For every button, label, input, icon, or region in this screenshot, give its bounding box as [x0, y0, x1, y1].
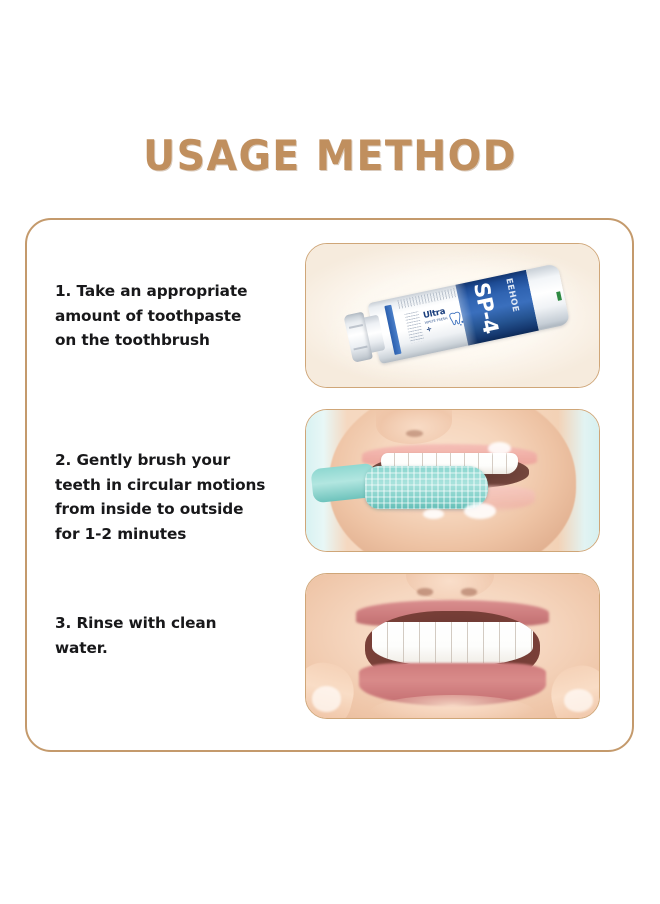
tube-model-text: SP-4 — [468, 275, 504, 341]
toothpaste-foam — [488, 442, 511, 455]
toothpaste-foam — [464, 503, 496, 519]
nostril-left — [417, 588, 433, 595]
tube-seal-mark — [557, 291, 563, 301]
step-2-text: 2. Gently brush your teeth in circular m… — [55, 448, 295, 546]
toothpaste-foam — [423, 509, 444, 519]
tube-brand-text: EEHOE — [501, 263, 524, 326]
smiling-mouth-photo — [306, 574, 599, 718]
brushing-teeth-photo — [306, 410, 599, 551]
nostril — [406, 430, 424, 437]
step-3-text: 3. Rinse with clean water. — [55, 611, 295, 660]
fingernail-right — [564, 689, 593, 712]
step-1-image-panel: Ultra WHITE FRESH + SP-4 EEHOE — [305, 243, 600, 388]
page-title: USAGE METHOD — [20, 131, 640, 180]
toothbrush-bristles — [365, 466, 488, 508]
toothpaste-tube-photo: Ultra WHITE FRESH + SP-4 EEHOE — [306, 244, 599, 387]
step-3-image-panel — [305, 573, 600, 719]
step-2-image-panel — [305, 409, 600, 552]
upper-teeth-row — [372, 622, 534, 666]
nostril-right — [461, 588, 477, 595]
step-1-text: 1. Take an appropriate amount of toothpa… — [55, 279, 295, 353]
fingernail-left — [312, 686, 341, 712]
